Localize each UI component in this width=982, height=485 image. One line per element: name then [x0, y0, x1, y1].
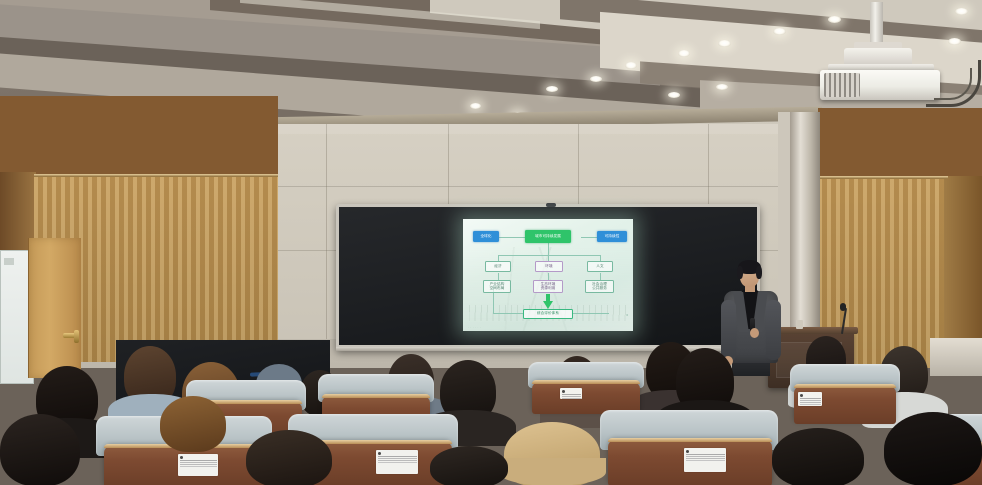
slide-box-society: 人文 [587, 261, 613, 272]
slide-box-environment: 环境 [535, 261, 563, 272]
seat-label-tag [560, 388, 582, 399]
left-wall-wood-upper [0, 96, 278, 178]
right-wall-trim [818, 176, 948, 179]
seat-trim [608, 438, 772, 442]
seat-label-tag [376, 450, 418, 474]
presenter-hair-side [737, 266, 743, 279]
arrow-down-icon [543, 301, 553, 309]
display-camera-icon [546, 203, 556, 207]
slide-connector [548, 241, 549, 255]
slide-box-center-theme: 城市可持续发展 [525, 230, 571, 243]
seat-label-tag [798, 392, 822, 406]
ceiling-downlight [546, 86, 558, 92]
slide-box-sustainability: 可持续性 [597, 231, 627, 242]
projected-slide: 全球化 城市可持续发展 可持续性 经济 环境 人文 产业结构 空间布局 生态环境… [463, 219, 633, 331]
ceiling-downlight [470, 103, 481, 109]
slide-box-ecology: 生态环境 资源利用 [533, 280, 563, 293]
slide-page-number: 6 [626, 313, 628, 317]
ceiling-downlight [590, 76, 602, 82]
presenter-hair-side [756, 266, 762, 279]
left-wall-trim [34, 174, 278, 177]
ceiling-downlight [718, 40, 731, 47]
cap-brim-icon [498, 458, 606, 485]
audience-head [160, 396, 226, 452]
slide-box-governance: 社会治理 公共服务 [585, 280, 614, 293]
seated-audience [0, 318, 982, 485]
audience-head [0, 414, 80, 485]
audience-head [430, 446, 508, 485]
slide-box-industry: 产业结构 空间布局 [483, 280, 511, 293]
microphone-icon [840, 303, 846, 311]
projector-vent-icon [824, 73, 860, 97]
ceiling-downlight [716, 84, 728, 90]
whiteboard-tag [4, 258, 14, 265]
lecture-hall-photo: 全球化 城市可持续发展 可持续性 经济 环境 人文 产业结构 空间布局 生态环境… [0, 0, 982, 485]
seat-label-tag [178, 454, 218, 476]
ceiling-projector [806, 2, 982, 110]
seat-trim [794, 384, 896, 388]
slide-connector [573, 313, 609, 314]
slide-connector [498, 255, 600, 256]
ceiling-downlight [773, 28, 786, 35]
slide-box-globalization: 全球化 [473, 231, 499, 242]
slide-box-economy: 经济 [485, 261, 511, 272]
audience-head [246, 430, 332, 485]
audience-head [772, 428, 864, 485]
seat-label-tag [684, 448, 726, 472]
seat-trim [322, 394, 430, 398]
seat-trim [532, 380, 640, 384]
ceiling-downlight [625, 62, 637, 69]
ceiling-downlight [678, 50, 690, 57]
ceiling-downlight [668, 92, 680, 98]
right-wall-wood-upper [818, 108, 982, 180]
slide-connector [493, 313, 523, 314]
audience-head [884, 412, 982, 485]
